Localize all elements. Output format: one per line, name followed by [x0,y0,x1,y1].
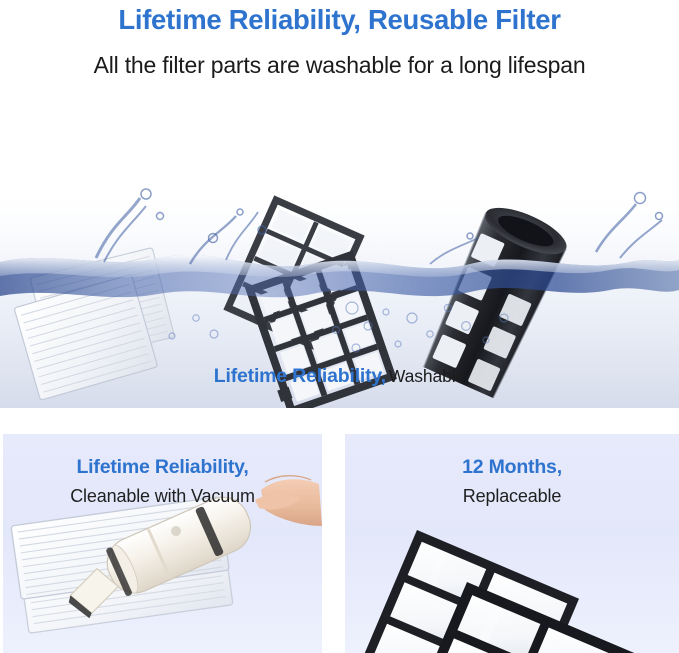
card-left-title: Lifetime Reliability, [3,456,322,479]
hero-caption: Lifetime Reliability,Washable [0,365,679,388]
page-subheadline: All the filter parts are washable for a … [0,52,679,79]
hero-water-scene [0,112,679,408]
product-feature-image: Lifetime Reliability, Reusable Filter Al… [0,0,679,653]
page-headline: Lifetime Reliability, Reusable Filter [0,4,679,36]
hero-caption-strong: Lifetime Reliability, [214,365,386,387]
card-cleanable-with-vacuum: Lifetime Reliability, Cleanable with Vac… [3,434,322,653]
card-left-subtitle: Cleanable with Vacuum [3,486,322,507]
hero-caption-light: Washable [389,366,465,386]
card-right-subtitle: Replaceable [345,486,679,507]
card-12-months-replaceable: 12 Months, Replaceable [345,434,679,653]
card-right-title: 12 Months, [345,456,679,479]
hero-panel [0,112,679,408]
